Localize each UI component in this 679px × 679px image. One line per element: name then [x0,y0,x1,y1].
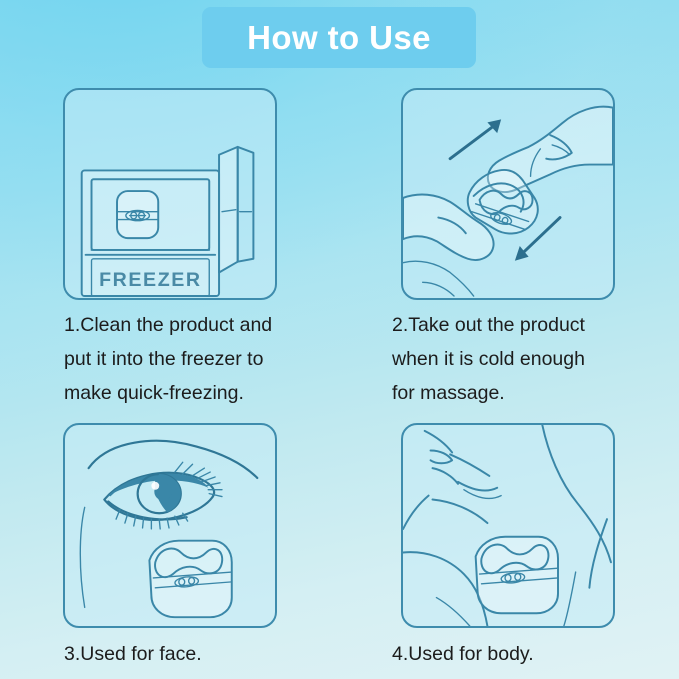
infographic-page: How to Use FREEZER [0,0,679,679]
step-3-illustration-panel [63,423,277,628]
step-4-caption: 4.Used for body. [392,637,642,671]
step-4-illustration-panel [401,423,615,628]
step-2-illustration-panel [401,88,615,300]
title-banner: How to Use [202,7,476,68]
body-illustration [403,425,613,626]
eye-illustration [65,425,275,626]
hands-holding-product-illustration [403,90,613,298]
step-3-caption: 3.Used for face. [64,637,314,671]
freezer-label: FREEZER [99,269,202,291]
arrow-up-icon [450,119,501,158]
step-2-caption: 2.Take out the product when it is cold e… [392,308,642,410]
freezer-illustration: FREEZER [65,90,275,298]
step-1-caption: 1.Clean the product and put it into the … [64,308,314,410]
product-device [117,191,158,238]
product-device [149,541,231,617]
product-device [476,537,558,613]
page-title: How to Use [247,21,431,54]
step-1-illustration-panel: FREEZER [63,88,277,300]
